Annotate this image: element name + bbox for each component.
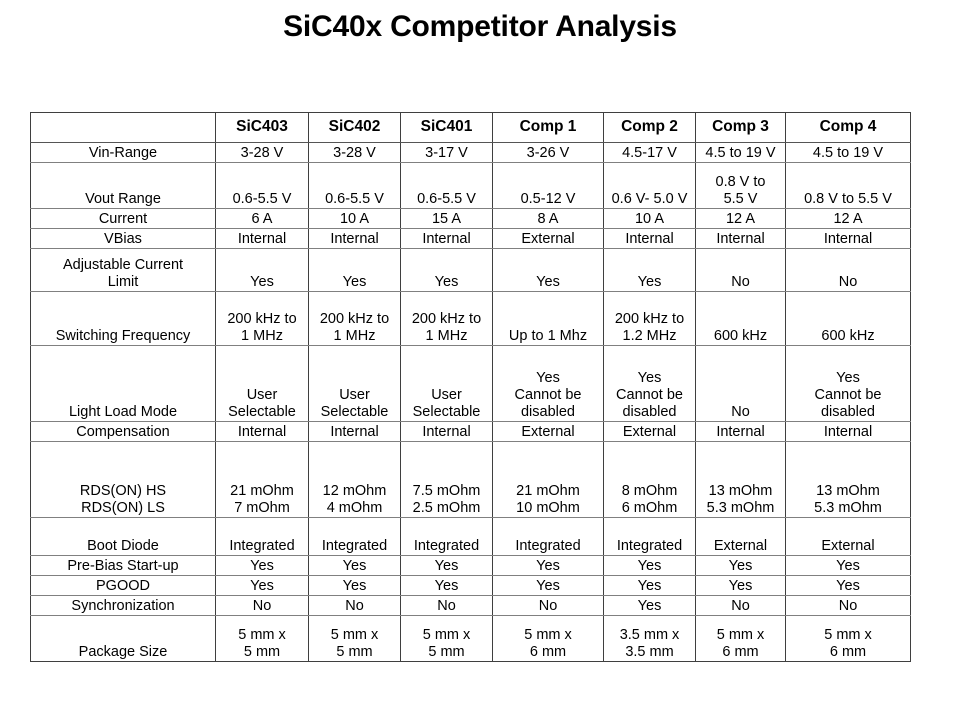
column-header-sic401: SiC401 — [401, 113, 493, 143]
table-cell: 5 mm x 5 mm — [216, 616, 309, 662]
page-title: SiC40x Competitor Analysis — [0, 10, 960, 44]
table-cell: Yes — [401, 556, 493, 576]
column-header-comp-1: Comp 1 — [493, 113, 604, 143]
slide-canvas: SiC40x Competitor Analysis SiC403 SiC402… — [0, 0, 960, 720]
table-cell: 5 mm x 5 mm — [309, 616, 401, 662]
table-cell: Yes — [604, 576, 696, 596]
table-row: Light Load ModeUser SelectableUser Selec… — [31, 346, 911, 422]
column-header-comp-2: Comp 2 — [604, 113, 696, 143]
table-row: Vout Range0.6-5.5 V0.6-5.5 V0.6-5.5 V0.5… — [31, 163, 911, 209]
table-cell: Integrated — [493, 518, 604, 556]
table-cell: Yes — [696, 576, 786, 596]
table-cell: Yes — [309, 576, 401, 596]
table-cell: Yes — [493, 556, 604, 576]
table-cell: No — [786, 596, 911, 616]
table-cell: Integrated — [401, 518, 493, 556]
table-cell: Yes — [309, 249, 401, 292]
table-row: Current6 A10 A15 A8 A10 A12 A12 A — [31, 209, 911, 229]
table-cell: 5 mm x 6 mm — [786, 616, 911, 662]
table-cell: 10 A — [604, 209, 696, 229]
table-cell: Yes — [216, 556, 309, 576]
table-cell: 21 mOhm 7 mOhm — [216, 442, 309, 518]
row-label: Boot Diode — [31, 518, 216, 556]
table-cell: 10 A — [309, 209, 401, 229]
comparison-table-container: SiC403 SiC402 SiC401 Comp 1 Comp 2 Comp … — [30, 112, 910, 662]
table-cell: External — [604, 422, 696, 442]
table-cell: External — [493, 422, 604, 442]
table-cell: 600 kHz — [786, 292, 911, 346]
table-cell: Yes — [401, 249, 493, 292]
row-label: Pre-Bias Start-up — [31, 556, 216, 576]
table-cell: 4.5-17 V — [604, 143, 696, 163]
table-header-row: SiC403 SiC402 SiC401 Comp 1 Comp 2 Comp … — [31, 113, 911, 143]
table-cell: 5 mm x 6 mm — [696, 616, 786, 662]
table-cell: Yes Cannot be disabled — [493, 346, 604, 422]
table-cell: Internal — [786, 229, 911, 249]
row-label: Switching Frequency — [31, 292, 216, 346]
table-cell: No — [696, 596, 786, 616]
table-cell: 6 A — [216, 209, 309, 229]
table-row: CompensationInternalInternalInternalExte… — [31, 422, 911, 442]
table-cell: Yes — [216, 576, 309, 596]
table-cell: 4.5 to 19 V — [696, 143, 786, 163]
column-header-sic402: SiC402 — [309, 113, 401, 143]
table-cell: 3-26 V — [493, 143, 604, 163]
table-row: RDS(ON) HS RDS(ON) LS21 mOhm 7 mOhm12 mO… — [31, 442, 911, 518]
table-cell: 12 A — [786, 209, 911, 229]
row-label: PGOOD — [31, 576, 216, 596]
table-row: PGOODYesYesYesYesYesYesYes — [31, 576, 911, 596]
row-label: VBias — [31, 229, 216, 249]
table-cell: 8 mOhm 6 mOhm — [604, 442, 696, 518]
row-label: RDS(ON) HS RDS(ON) LS — [31, 442, 216, 518]
table-cell: User Selectable — [309, 346, 401, 422]
row-label: Adjustable Current Limit — [31, 249, 216, 292]
table-cell: 0.6-5.5 V — [401, 163, 493, 209]
table-cell: User Selectable — [401, 346, 493, 422]
table-cell: Internal — [696, 422, 786, 442]
table-cell: Internal — [604, 229, 696, 249]
table-row: Vin-Range3-28 V3-28 V3-17 V3-26 V4.5-17 … — [31, 143, 911, 163]
table-cell: Yes Cannot be disabled — [786, 346, 911, 422]
row-label: Light Load Mode — [31, 346, 216, 422]
table-cell: No — [786, 249, 911, 292]
table-cell: Internal — [309, 422, 401, 442]
table-cell: 13 mOhm 5.3 mOhm — [696, 442, 786, 518]
table-cell: Yes — [696, 556, 786, 576]
column-header-comp-3: Comp 3 — [696, 113, 786, 143]
table-cell: 5 mm x 6 mm — [493, 616, 604, 662]
table-cell: 200 kHz to 1 MHz — [216, 292, 309, 346]
table-cell: 4.5 to 19 V — [786, 143, 911, 163]
table-row: Pre-Bias Start-upYesYesYesYesYesYesYes — [31, 556, 911, 576]
table-row: Boot DiodeIntegratedIntegratedIntegrated… — [31, 518, 911, 556]
table-cell: Yes — [309, 556, 401, 576]
table-cell: Integrated — [604, 518, 696, 556]
table-cell: Internal — [696, 229, 786, 249]
table-cell: Up to 1 Mhz — [493, 292, 604, 346]
table-cell: Integrated — [309, 518, 401, 556]
table-cell: 0.8 V to 5.5 V — [786, 163, 911, 209]
table-cell: No — [309, 596, 401, 616]
table-cell: External — [696, 518, 786, 556]
table-cell: Yes — [604, 596, 696, 616]
column-header-comp-4: Comp 4 — [786, 113, 911, 143]
table-row: SynchronizationNoNoNoNoYesNoNo — [31, 596, 911, 616]
table-cell: 600 kHz — [696, 292, 786, 346]
table-cell: No — [696, 249, 786, 292]
table-cell: 3-17 V — [401, 143, 493, 163]
table-cell: Integrated — [216, 518, 309, 556]
row-label: Vout Range — [31, 163, 216, 209]
table-cell: Yes — [493, 249, 604, 292]
table-cell: 13 mOhm 5.3 mOhm — [786, 442, 911, 518]
table-cell: 12 A — [696, 209, 786, 229]
table-header: SiC403 SiC402 SiC401 Comp 1 Comp 2 Comp … — [31, 113, 911, 143]
table-cell: Yes — [786, 556, 911, 576]
table-cell: 0.5-12 V — [493, 163, 604, 209]
table-cell: 7.5 mOhm 2.5 mOhm — [401, 442, 493, 518]
table-cell: Internal — [309, 229, 401, 249]
table-cell: 200 kHz to 1.2 MHz — [604, 292, 696, 346]
table-cell: 0.6-5.5 V — [216, 163, 309, 209]
table-cell: External — [786, 518, 911, 556]
table-cell: 200 kHz to 1 MHz — [309, 292, 401, 346]
row-label: Synchronization — [31, 596, 216, 616]
table-cell: Yes — [604, 249, 696, 292]
row-label: Vin-Range — [31, 143, 216, 163]
table-cell: Yes — [401, 576, 493, 596]
table-row: VBiasInternalInternalInternalExternalInt… — [31, 229, 911, 249]
table-cell: Internal — [786, 422, 911, 442]
row-label: Current — [31, 209, 216, 229]
table-cell: Yes — [493, 576, 604, 596]
table-row: Adjustable Current LimitYesYesYesYesYesN… — [31, 249, 911, 292]
table-cell: Internal — [401, 422, 493, 442]
table-row: Package Size5 mm x 5 mm5 mm x 5 mm5 mm x… — [31, 616, 911, 662]
table-cell: 8 A — [493, 209, 604, 229]
table-cell: Internal — [216, 229, 309, 249]
table-cell: 3.5 mm x 3.5 mm — [604, 616, 696, 662]
table-cell: Yes — [216, 249, 309, 292]
table-cell: 3-28 V — [216, 143, 309, 163]
column-header-sic403: SiC403 — [216, 113, 309, 143]
table-cell: Yes — [604, 556, 696, 576]
table-cell: 12 mOhm 4 mOhm — [309, 442, 401, 518]
table-cell: No — [216, 596, 309, 616]
column-header-feature — [31, 113, 216, 143]
table-cell: Yes Cannot be disabled — [604, 346, 696, 422]
table-cell: 0.8 V to 5.5 V — [696, 163, 786, 209]
table-cell: No — [696, 346, 786, 422]
table-cell: 0.6 V- 5.0 V — [604, 163, 696, 209]
table-cell: 200 kHz to 1 MHz — [401, 292, 493, 346]
table-cell: 3-28 V — [309, 143, 401, 163]
table-row: Switching Frequency200 kHz to 1 MHz200 k… — [31, 292, 911, 346]
table-cell: Yes — [786, 576, 911, 596]
table-cell: 0.6-5.5 V — [309, 163, 401, 209]
table-body: Vin-Range3-28 V3-28 V3-17 V3-26 V4.5-17 … — [31, 143, 911, 662]
table-cell: External — [493, 229, 604, 249]
table-cell: No — [401, 596, 493, 616]
table-cell: User Selectable — [216, 346, 309, 422]
table-cell: 21 mOhm 10 mOhm — [493, 442, 604, 518]
table-cell: Internal — [216, 422, 309, 442]
table-cell: 5 mm x 5 mm — [401, 616, 493, 662]
table-cell: No — [493, 596, 604, 616]
row-label: Compensation — [31, 422, 216, 442]
competitor-analysis-table: SiC403 SiC402 SiC401 Comp 1 Comp 2 Comp … — [30, 112, 911, 662]
row-label: Package Size — [31, 616, 216, 662]
table-cell: 15 A — [401, 209, 493, 229]
table-cell: Internal — [401, 229, 493, 249]
